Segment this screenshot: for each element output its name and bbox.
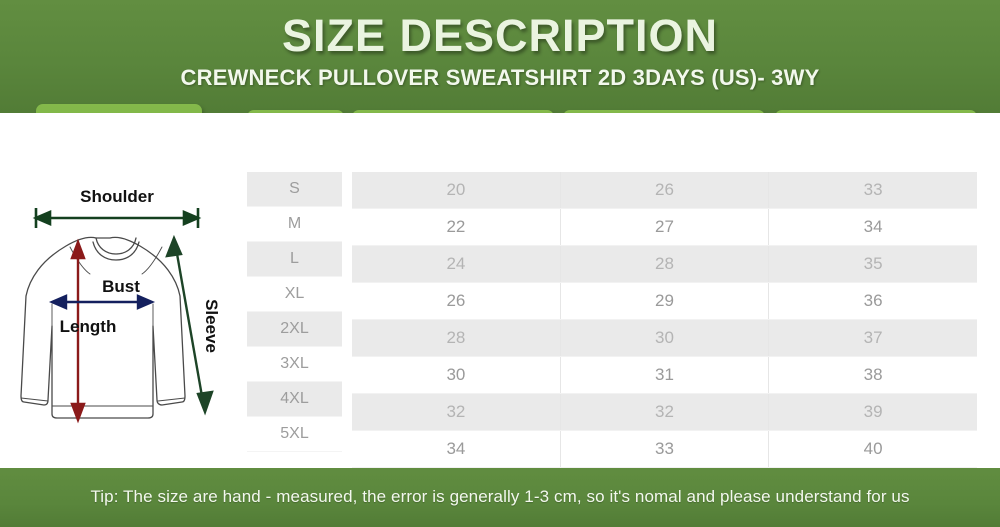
size-cell: L <box>247 242 342 277</box>
size-cell: 2XL <box>247 312 342 347</box>
table-row: 28 30 37 <box>352 320 977 357</box>
chest-cell: 20 <box>352 172 560 209</box>
size-cell: 5XL <box>247 417 342 452</box>
chest-cell: 32 <box>352 394 560 431</box>
page-subtitle: CREWNECK PULLOVER SWEATSHIRT 2D 3DAYS (U… <box>0 64 1000 92</box>
body-length-cell: 32 <box>560 394 768 431</box>
chest-cell: 24 <box>352 246 560 283</box>
shoulder-measure-arrow <box>36 208 198 228</box>
body-length-cell: 29 <box>560 283 768 320</box>
body-length-cell: 30 <box>560 320 768 357</box>
chest-cell: 30 <box>352 357 560 394</box>
sleeve-length-cell: 36 <box>769 283 977 320</box>
body-length-cell: 28 <box>560 246 768 283</box>
body-length-cell: 26 <box>560 172 768 209</box>
table-row: 30 31 38 <box>352 357 977 394</box>
bust-label: Bust <box>102 277 140 296</box>
sleeve-length-cell: 37 <box>769 320 977 357</box>
shoulder-label: Shoulder <box>80 187 154 206</box>
page-title: SIZE DESCRIPTION <box>0 10 1000 62</box>
sleeve-length-cell: 38 <box>769 357 977 394</box>
table-row: 20 26 33 <box>352 172 977 209</box>
size-cell: M <box>247 207 342 242</box>
size-cell: XL <box>247 277 342 312</box>
table-row: 24 28 35 <box>352 246 977 283</box>
sleeve-length-cell: 35 <box>769 246 977 283</box>
us-size-column: S M L XL 2XL 3XL 4XL 5XL <box>247 172 342 452</box>
sleeve-length-cell: 40 <box>769 431 977 468</box>
table-row: 22 27 34 <box>352 209 977 246</box>
size-cell: S <box>247 172 342 207</box>
footer-band: Tip: The size are hand - measured, the e… <box>0 468 1000 527</box>
chest-cell: 28 <box>352 320 560 357</box>
body-length-cell: 33 <box>560 431 768 468</box>
sleeve-length-cell: 39 <box>769 394 977 431</box>
garment-diagram: | --> <box>8 186 244 438</box>
size-chart-page: SIZE DESCRIPTION CREWNECK PULLOVER SWEAT… <box>0 0 1000 527</box>
sleeve-label: Sleeve <box>202 299 221 353</box>
chest-cell: 22 <box>352 209 560 246</box>
table-row: 32 32 39 <box>352 394 977 431</box>
size-cell: 4XL <box>247 382 342 417</box>
table-row: 34 33 40 <box>352 431 977 468</box>
table-row: 26 29 36 <box>352 283 977 320</box>
sleeve-length-cell: 34 <box>769 209 977 246</box>
length-label: Length <box>60 317 117 336</box>
header-band: SIZE DESCRIPTION CREWNECK PULLOVER SWEAT… <box>0 0 1000 113</box>
body-length-cell: 27 <box>560 209 768 246</box>
chest-cell: 34 <box>352 431 560 468</box>
size-cell: 3XL <box>247 347 342 382</box>
footer-tip-text: Tip: The size are hand - measured, the e… <box>0 482 1000 512</box>
sleeve-length-cell: 33 <box>769 172 977 209</box>
measurement-table: 20 26 33 22 27 34 24 28 35 26 29 36 28 3 <box>352 172 977 468</box>
body-length-cell: 31 <box>560 357 768 394</box>
chest-cell: 26 <box>352 283 560 320</box>
